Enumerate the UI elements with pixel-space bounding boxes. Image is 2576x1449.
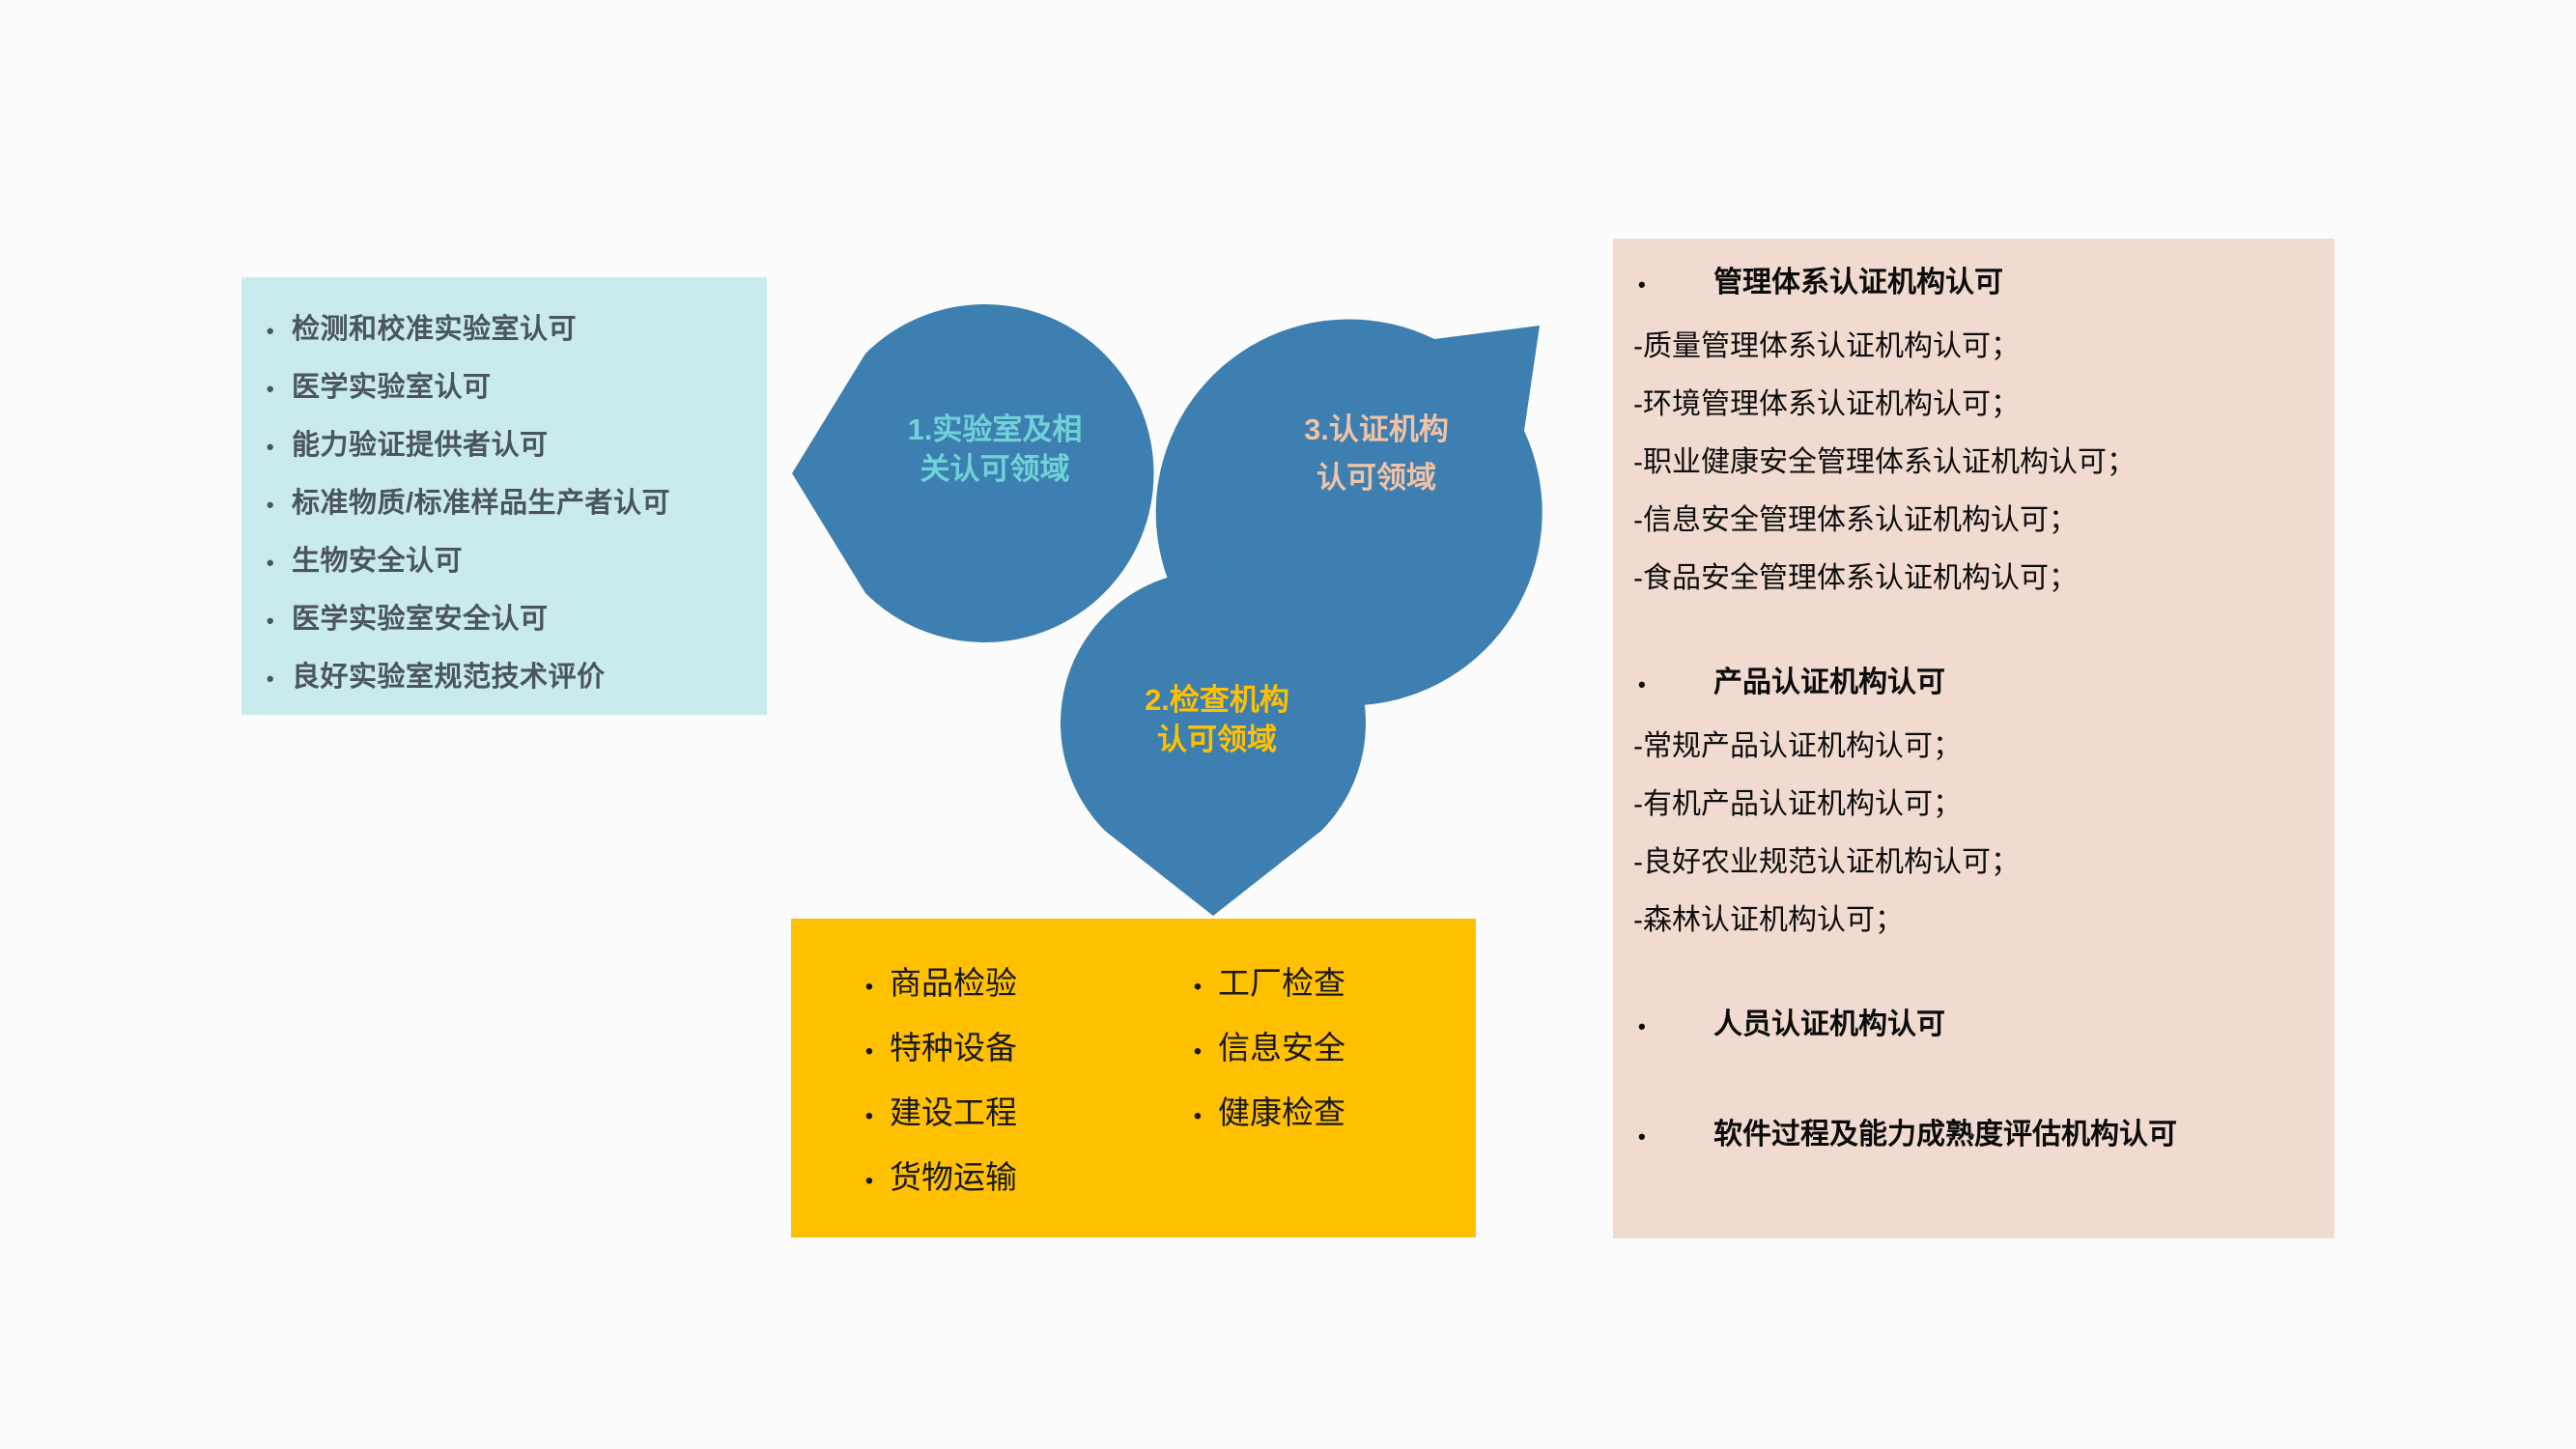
section-item: -环境管理体系认证机构认可； [1627, 376, 2325, 434]
petal-2-label: 2.检查机构 认可领域 [1072, 681, 1362, 760]
list-item-label: 能力验证提供者认可 [292, 422, 549, 463]
section-item: -有机产品认证机构认可； [1627, 776, 2325, 834]
bullet-icon: • [849, 976, 890, 999]
inspection-body-list-box: • 商品检验 • 特种设备 • 建设工程 • 货物运输 • [791, 919, 1476, 1237]
section-item: -良好农业规范认证机构认可； [1627, 834, 2325, 892]
petal-1-label: 1.实验室及相 关认可领域 [850, 411, 1140, 490]
list-item-label: 工厂检查 [1218, 957, 1345, 1004]
section-heading: • 产品认证机构认可 [1627, 658, 2325, 718]
section-item: -质量管理体系认证机构认可； [1627, 318, 2325, 376]
section-item: -常规产品认证机构认可； [1627, 718, 2325, 776]
list-item-label: 建设工程 [890, 1087, 1017, 1133]
list-item: • 良好实验室规范技术评价 [249, 654, 757, 712]
certification-body-sections: • 管理体系认证机构认可 -质量管理体系认证机构认可； -环境管理体系认证机构认… [1627, 258, 2325, 1170]
list-item: • 能力验证提供者认可 [249, 422, 757, 480]
list-item: • 检测和校准实验室认可 [249, 306, 757, 364]
bullet-icon: • [1177, 1105, 1218, 1128]
bullet-icon: • [249, 495, 292, 516]
list-item: • 医学实验室认可 [249, 364, 757, 422]
diagram-canvas: • 检测和校准实验室认可 • 医学实验室认可 • 能力验证提供者认可 • 标准物… [0, 0, 2576, 1449]
bullet-icon: • [249, 668, 292, 690]
list-item: • 建设工程 [849, 1087, 1119, 1151]
list-item-label: 信息安全 [1218, 1022, 1345, 1068]
bullet-icon: • [1627, 1016, 1713, 1037]
list-item-label: 健康检查 [1218, 1087, 1345, 1133]
list-item-label: 医学实验室安全认可 [292, 596, 549, 637]
bullet-icon: • [849, 1105, 890, 1128]
list-item-label: 良好实验室规范技术评价 [292, 654, 606, 695]
list-item-label: 医学实验室认可 [292, 364, 492, 405]
list-item-label: 标准物质/标准样品生产者认可 [292, 480, 670, 521]
list-item: • 工厂检查 [1177, 957, 1448, 1022]
list-item-label: 生物安全认可 [292, 538, 463, 579]
inspection-columns: • 商品检验 • 特种设备 • 建设工程 • 货物运输 • [849, 957, 1448, 1216]
bullet-icon: • [249, 553, 292, 574]
list-item-label: 货物运输 [890, 1151, 1017, 1198]
bullet-icon: • [249, 611, 292, 632]
section-heading-label: 产品认证机构认可 [1713, 658, 1945, 700]
section-item: -食品安全管理体系认证机构认可； [1627, 550, 2325, 608]
bullet-icon: • [1627, 674, 1713, 696]
list-item: • 标准物质/标准样品生产者认可 [249, 480, 757, 538]
list-item: • 信息安全 [1177, 1022, 1448, 1087]
section-heading-label: 软件过程及能力成熟度评估机构认可 [1713, 1110, 2177, 1152]
section-heading-label: 管理体系认证机构认可 [1713, 258, 2003, 300]
bullet-icon: • [249, 437, 292, 458]
inspection-column-2: • 工厂检查 • 信息安全 • 健康检查 [1177, 957, 1448, 1216]
list-item: • 医学实验室安全认可 [249, 596, 757, 654]
section-heading-label: 人员认证机构认可 [1713, 1000, 1945, 1042]
bullet-icon: • [849, 1040, 890, 1064]
section-heading: • 人员认证机构认可 [1627, 1000, 2325, 1060]
section-spacer [1627, 608, 2325, 658]
bullet-icon: • [249, 321, 292, 342]
list-item: • 商品检验 [849, 957, 1119, 1022]
list-item: • 特种设备 [849, 1022, 1119, 1087]
section-spacer [1627, 1060, 2325, 1110]
list-item-label: 检测和校准实验室认可 [292, 306, 577, 347]
bullet-icon: • [1627, 274, 1713, 296]
section-spacer [1627, 950, 2325, 1000]
section-item: -信息安全管理体系认证机构认可； [1627, 492, 2325, 550]
bullet-icon: • [1177, 1040, 1218, 1064]
section-item: -森林认证机构认可； [1627, 892, 2325, 950]
petal-3-label: 3.认证机构 认可领域 [1236, 406, 1516, 501]
section-item: -职业健康安全管理体系认证机构认可； [1627, 434, 2325, 492]
bullet-icon: • [1627, 1126, 1713, 1148]
certification-body-panel: • 管理体系认证机构认可 -质量管理体系认证机构认可； -环境管理体系认证机构认… [1613, 239, 2335, 1238]
list-item-label: 特种设备 [890, 1022, 1017, 1068]
section-heading: • 软件过程及能力成熟度评估机构认可 [1627, 1110, 2325, 1170]
section-heading: • 管理体系认证机构认可 [1627, 258, 2325, 318]
list-item: • 健康检查 [1177, 1087, 1448, 1151]
list-item-label: 商品检验 [890, 957, 1017, 1004]
bullet-icon: • [249, 379, 292, 400]
laboratory-accreditation-list: • 检测和校准实验室认可 • 医学实验室认可 • 能力验证提供者认可 • 标准物… [249, 306, 757, 712]
bullet-icon: • [849, 1170, 890, 1193]
inspection-column-1: • 商品检验 • 特种设备 • 建设工程 • 货物运输 [849, 957, 1119, 1216]
bullet-icon: • [1177, 976, 1218, 999]
list-item: • 货物运输 [849, 1151, 1119, 1216]
list-item: • 生物安全认可 [249, 538, 757, 596]
laboratory-accreditation-list-box: • 检测和校准实验室认可 • 医学实验室认可 • 能力验证提供者认可 • 标准物… [241, 277, 767, 715]
